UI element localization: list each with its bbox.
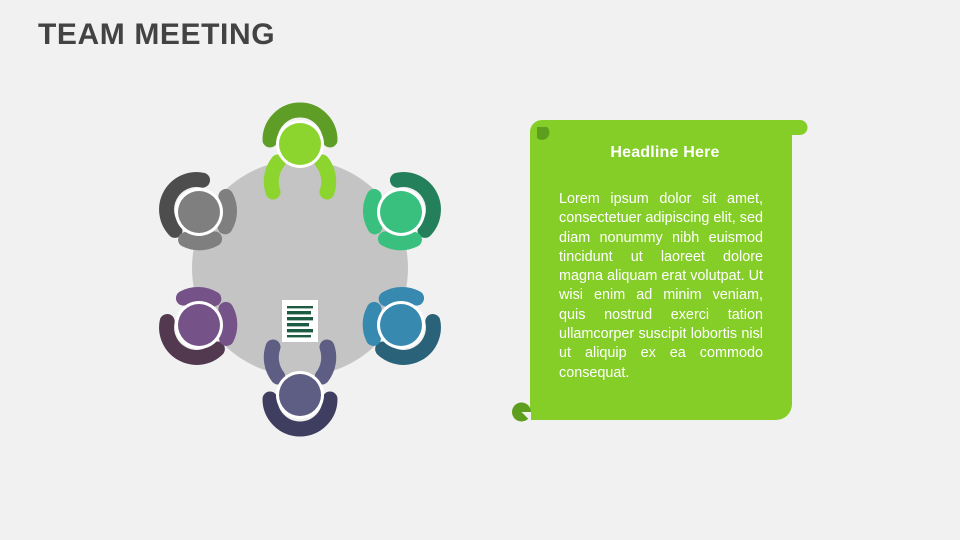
card-headline: Headline Here [530, 144, 800, 162]
card-body-text: Lorem ipsum dolor sit amet, consectetuer… [559, 190, 763, 402]
person-arm-right [271, 347, 278, 377]
card-text-layer: Headline Here Lorem ipsum dolor sit amet… [510, 112, 820, 432]
person-arm-right [322, 162, 329, 192]
person-arm-left [322, 347, 329, 377]
page-title: TEAM MEETING [38, 17, 275, 53]
slide-canvas: TEAM MEETING [0, 0, 960, 540]
person-arm-left [271, 162, 278, 192]
team-meeting-illustration [140, 95, 470, 445]
person-head-fill [279, 374, 321, 416]
info-card[interactable]: Headline Here Lorem ipsum dolor sit amet… [510, 112, 820, 432]
document-on-table [282, 300, 318, 342]
person-head-fill [279, 123, 321, 165]
